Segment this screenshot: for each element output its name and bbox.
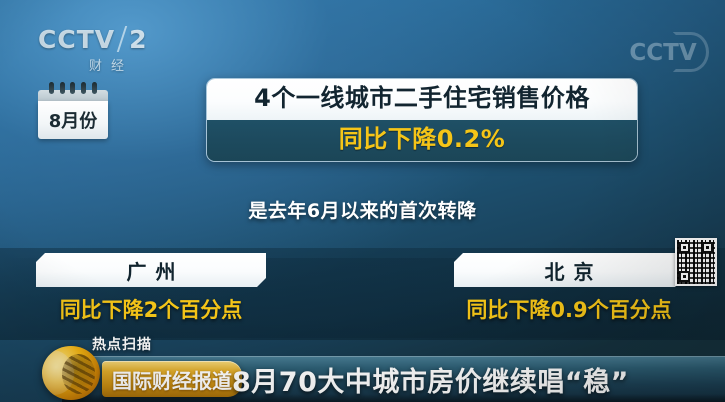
lower-third-bar: 热点扫描 国际财经报道 8月70大中城市房价继续唱“稳”	[0, 356, 725, 402]
program-brand-label: 国际财经报道	[112, 365, 232, 394]
calendar-month-label: 8月份	[49, 107, 98, 133]
lower-third-tag: 热点扫描	[92, 334, 152, 354]
cctv-logo-row: CCTV 2	[38, 26, 178, 52]
calendar-icon: 8月份	[38, 82, 108, 139]
cctv-watermark-logo: CCTV	[615, 32, 711, 74]
program-brand-badge: 国际财经报道	[102, 361, 242, 397]
headline-card: 4个一线城市二手住宅销售价格 同比下降0.2%	[206, 78, 638, 162]
city-stat-label: 同比下降2个百分点	[60, 298, 243, 322]
sub-note: 是去年6月以来的首次转降	[0, 196, 725, 223]
headline-stat-text: 同比下降0.2%	[339, 125, 506, 153]
globe-logo-icon	[42, 346, 100, 400]
city-block-guangzhou: 广州 同比下降2个百分点	[36, 253, 266, 324]
city-name-chip: 广州	[36, 253, 266, 287]
calendar-ring-icon	[92, 82, 97, 94]
headline-primary-text: 4个一线城市二手住宅销售价格	[254, 84, 590, 112]
qr-finder-icon	[679, 271, 690, 282]
city-stat-label: 同比下降0.9个百分点	[466, 298, 671, 322]
lower-third-headline-text: 8月70大中城市房价继续唱“稳”	[232, 360, 629, 399]
calendar-body: 8月份	[38, 101, 108, 139]
city-name-label: 北京	[536, 256, 603, 285]
city-name-label: 广州	[118, 256, 185, 285]
calendar-ring-icon	[60, 82, 65, 94]
calendar-ring-icon	[49, 82, 54, 94]
headline-card-bottom: 同比下降0.2%	[207, 120, 637, 161]
cctv-channel-logo: CCTV 2 财经	[38, 26, 178, 74]
broadcast-screen: CCTV 2 财经 CCTV 8月份 4个一线城市二手住宅销售价格 同比	[0, 0, 725, 402]
calendar-ring-icon	[70, 82, 75, 94]
calendar-rings-icon	[38, 82, 108, 94]
cctv-logo-number: 2	[129, 27, 147, 52]
sub-note-text: 是去年6月以来的首次转降	[248, 200, 476, 222]
qr-code-icon	[675, 238, 717, 286]
city-stat: 同比下降2个百分点	[36, 294, 266, 324]
city-block-beijing: 北京 同比下降0.9个百分点	[454, 253, 684, 324]
qr-finder-icon	[702, 242, 713, 253]
lower-third-tag-label: 热点扫描	[92, 337, 152, 353]
cctv-logo-slash-icon	[117, 26, 127, 52]
cctv-logo-text: CCTV	[38, 27, 115, 52]
cctv-watermark-arc-icon	[673, 32, 709, 72]
cctv-logo-subtitle: 财经	[38, 55, 178, 74]
qr-finder-icon	[679, 242, 690, 253]
headline-card-top: 4个一线城市二手住宅销售价格	[207, 79, 637, 120]
calendar-ring-icon	[81, 82, 86, 94]
city-name-chip: 北京	[454, 253, 684, 287]
lower-third-headline: 8月70大中城市房价继续唱“稳”	[232, 360, 717, 398]
city-stat: 同比下降0.9个百分点	[454, 294, 684, 324]
